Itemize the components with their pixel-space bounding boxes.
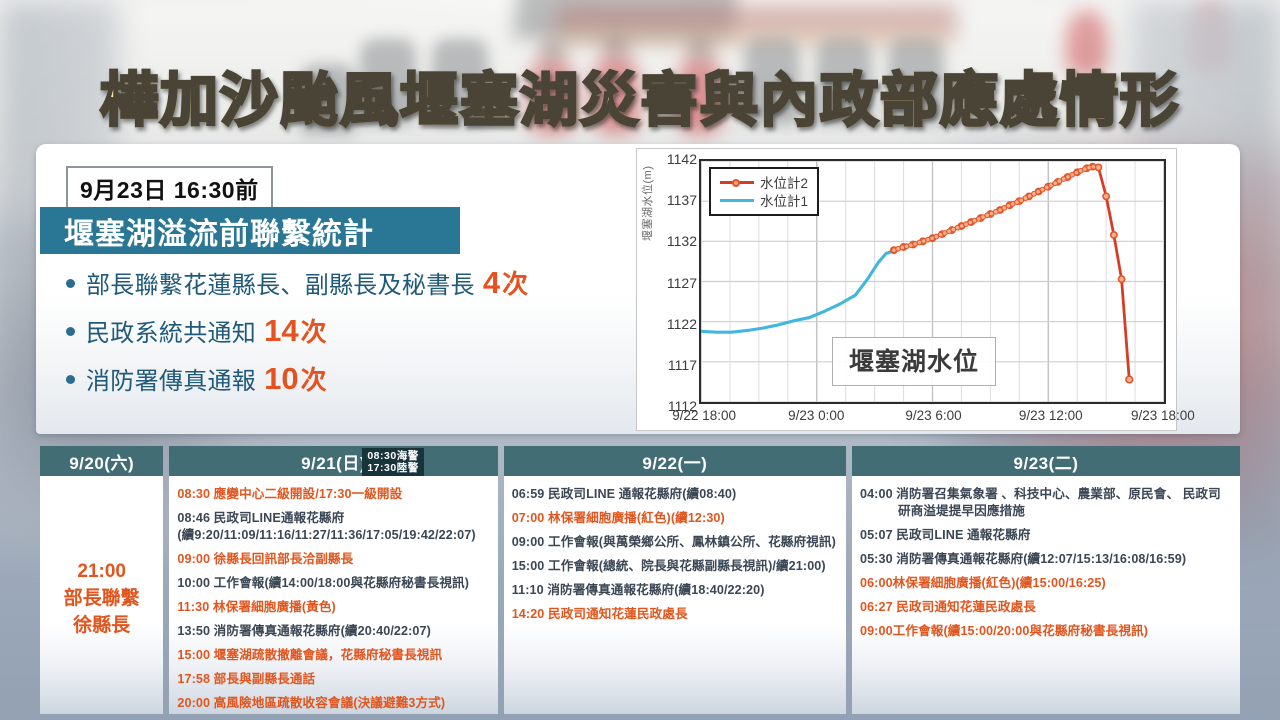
timeline-column-0923: 9/23(二) 04:00 消防署召集氣象署 、科技中心、農業部、原民會、 民政… xyxy=(852,446,1240,714)
timeline-column-0922: 9/22(一) 06:59 民政司LINE 通報花縣府(續08:40)07:00… xyxy=(504,446,846,714)
timeline-event: 07:00 林保署細胞廣播(紅色)(續12:30) xyxy=(512,510,838,527)
legend-item: 水位計1 xyxy=(720,191,808,209)
chart-x-tick-label: 9/23 6:00 xyxy=(905,408,961,423)
legend-swatch-series2 xyxy=(720,181,754,184)
timeline-column-body: 08:30 應變中心二級開設/17:30一級開設08:46 民政司LINE通報花… xyxy=(169,476,497,714)
timeline-column-body: 21:00部長聯繫徐縣長 xyxy=(40,476,163,714)
legend-swatch-series1 xyxy=(720,199,754,202)
chart-title: 堰塞湖水位 xyxy=(832,337,996,386)
bullet-unit: 次 xyxy=(502,264,528,301)
bullet-unit: 次 xyxy=(301,312,327,349)
bullet-unit: 次 xyxy=(301,360,327,397)
timeline-column-body: 06:59 民政司LINE 通報花縣府(續08:40)07:00 林保署細胞廣播… xyxy=(504,476,846,714)
list-item: 消防署傳真通報 10 次 xyxy=(66,360,646,397)
bullet-text: 消防署傳真通報 xyxy=(86,361,256,396)
bullet-dot-icon xyxy=(66,279,75,288)
timeline-event: 06:00林保署細胞廣播(紅色)(續15:00/16:25) xyxy=(860,575,1232,592)
list-item: 民政系統共通知 14 次 xyxy=(66,312,646,349)
legend-item: 水位計2 xyxy=(720,173,808,191)
chart-y-tick-label: 1127 xyxy=(653,275,697,291)
bullet-count: 4 xyxy=(483,265,500,301)
bullet-dot-icon xyxy=(66,327,75,336)
timeline-event: 05:07 民政司LINE 通報花縣府 xyxy=(860,527,1232,544)
bullet-text: 民政系統共通知 xyxy=(86,313,256,348)
page-title-text: 樺加沙颱風堰塞湖災害與內政部應處情形 xyxy=(0,64,1280,136)
chart-legend: 水位計2 水位計1 xyxy=(709,167,819,216)
chart-x-tick-label: 9/23 0:00 xyxy=(788,408,844,423)
timeline-event: 05:30 消防署傳真通報花縣府(續12:07/15:13/16:08/16:5… xyxy=(860,551,1232,568)
list-item: 部長聯繫花蓮縣長、副縣長及秘書長 4 次 xyxy=(66,264,646,301)
timeline-column-header: 9/20(六) xyxy=(40,446,163,476)
bullet-dot-icon xyxy=(66,375,75,384)
timeline-column-header: 9/22(一) xyxy=(504,446,846,476)
timeline-column-header: 9/21(日) 08:30海警17:30陸警 xyxy=(169,446,497,476)
water-level-chart: 堰塞湖水位(m) 1112111711221127113211371142 9/… xyxy=(636,148,1177,431)
chart-y-tick-label: 1137 xyxy=(653,192,697,208)
timeline-event: 08:46 民政司LINE通報花縣府(續9:20/11:09/11:16/11:… xyxy=(177,510,489,544)
timeline-event: 15:00 堰塞湖疏散撤離會議，花縣府秘書長視訊 xyxy=(177,647,489,664)
chart-x-tick-label: 9/23 18:00 xyxy=(1131,408,1195,423)
legend-label: 水位計2 xyxy=(760,172,808,192)
chart-x-tick-label: 9/22 18:00 xyxy=(672,408,736,423)
timeline-event: 15:00 工作會報(總統、院長與花縣副縣長視訊)/續21:00) xyxy=(512,558,838,575)
bullet-count: 10 xyxy=(264,361,298,397)
stats-bullet-list: 部長聯繫花蓮縣長、副縣長及秘書長 4 次 民政系統共通知 14 次 消防署傳真通… xyxy=(66,264,646,408)
chart-y-tick-label: 1122 xyxy=(653,316,697,332)
timeline-event: 11:30 林保署細胞廣播(黃色) xyxy=(177,599,489,616)
timeline-summary-text: 21:00部長聯繫徐縣長 xyxy=(64,558,140,639)
warning-badge: 08:30海警17:30陸警 xyxy=(362,448,423,476)
timeline-column-0921: 9/21(日) 08:30海警17:30陸警 08:30 應變中心二級開設/17… xyxy=(169,446,497,714)
chart-x-ticks: 9/22 18:009/23 0:009/23 6:009/23 12:009/… xyxy=(637,408,1176,426)
chart-y-tick-label: 1132 xyxy=(653,233,697,249)
stats-heading-band: 堰塞湖溢流前聯繫統計 xyxy=(40,207,460,254)
chart-x-tick-label: 9/23 12:00 xyxy=(1019,408,1083,423)
timeline-event: 20:00 高風險地區疏散收容會議(決議避難3方式) xyxy=(177,695,489,712)
timeline-event: 10:00 工作會報(續14:00/18:00與花縣府秘書長視訊) xyxy=(177,575,489,592)
legend-label: 水位計1 xyxy=(760,190,808,210)
bullet-text: 部長聯繫花蓮縣長、副縣長及秘書長 xyxy=(86,265,475,300)
stats-heading-text: 堰塞湖溢流前聯繫統計 xyxy=(64,209,374,253)
timeline-column-0920: 9/20(六) 21:00部長聯繫徐縣長 xyxy=(40,446,163,714)
timeline-column-body: 04:00 消防署召集氣象署 、科技中心、農業部、原民會、 民政司研商溢堤提早因… xyxy=(852,476,1240,714)
timeline-event: 09:00 徐縣長回訊部長洽副縣長 xyxy=(177,551,489,568)
timeline-event: 09:00工作會報(續15:00/20:00與花縣府秘書長視訊) xyxy=(860,623,1232,640)
timeline-event: 14:20 民政司通知花蓮民政處長 xyxy=(512,606,838,623)
bullet-count: 14 xyxy=(264,313,298,349)
timeline-event: 06:27 民政司通知花蓮民政處長 xyxy=(860,599,1232,616)
timeline-event: 11:10 消防署傳真通報花縣府(續18:40/22:20) xyxy=(512,582,838,599)
timeline-column-header-label: 9/21(日) xyxy=(301,449,366,474)
chart-y-tick-label: 1117 xyxy=(653,357,697,373)
timeline-event: 06:59 民政司LINE 通報花縣府(續08:40) xyxy=(512,486,838,503)
timeline-event: 13:50 消防署傳真通報花縣府(續20:40/22:07) xyxy=(177,623,489,640)
timeline-column-header: 9/23(二) xyxy=(852,446,1240,476)
chart-y-tick-label: 1142 xyxy=(653,151,697,167)
date-chip: 9月23日 16:30前 xyxy=(66,166,273,212)
timeline-event: 09:00 工作會報(與萬榮鄉公所、鳳林鎮公所、花縣府視訊) xyxy=(512,534,838,551)
timeline-event: 08:30 應變中心二級開設/17:30一級開設 xyxy=(177,486,489,503)
timeline: 9/20(六) 21:00部長聯繫徐縣長 9/21(日) 08:30海警17:3… xyxy=(40,446,1240,714)
chart-y-ticks: 1112111711221127113211371142 xyxy=(651,149,697,430)
timeline-event: 04:00 消防署召集氣象署 、科技中心、農業部、原民會、 民政司研商溢堤提早因… xyxy=(860,486,1232,520)
timeline-event: 17:58 部長與副縣長通話 xyxy=(177,671,489,688)
page-title: 樺加沙颱風堰塞湖災害與內政部應處情形 xyxy=(0,64,1280,136)
summary-card: 9月23日 16:30前 堰塞湖溢流前聯繫統計 部長聯繫花蓮縣長、副縣長及秘書長… xyxy=(36,144,1240,434)
